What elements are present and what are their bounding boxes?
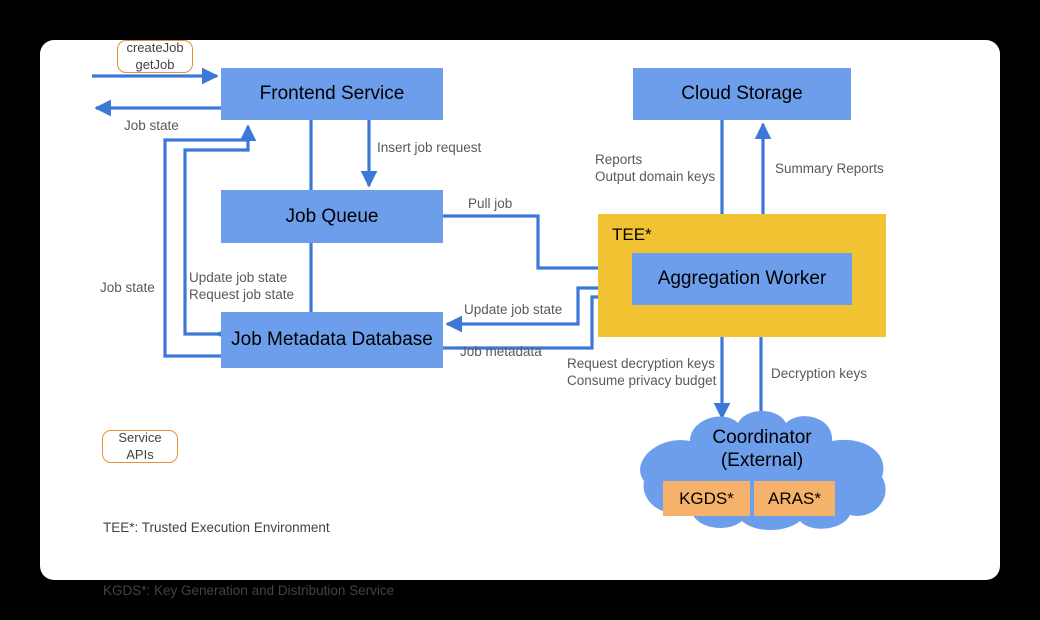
node-cloud-storage-label: Cloud Storage [681,83,802,105]
edge-label-request-decryption-keys: Request decryption keys Consume privacy … [567,355,716,390]
node-job-queue[interactable]: Job Queue [221,190,443,243]
edge-label-summary-reports: Summary Reports [775,160,884,177]
node-frontend-service[interactable]: Frontend Service [221,68,443,120]
node-aras-label: ARAS* [768,489,821,509]
node-aggregation-worker-label: Aggregation Worker [658,268,827,290]
edge-label-decryption-keys: Decryption keys [771,365,867,382]
legend-key-line1: Service [118,430,161,446]
callout-line-createjob: createJob [126,40,183,56]
node-job-metadata-database-label: Job Metadata Database [231,329,433,351]
node-aras[interactable]: ARAS* [754,481,835,516]
legend-service-apis-key: Service APIs [102,430,178,463]
edge-label-job-state-out: Job state [124,117,179,134]
edge-label-pull-job: Pull job [468,195,512,212]
node-cloud-storage[interactable]: Cloud Storage [633,68,851,120]
legend-line-tee: TEE*: Trusted Execution Environment [103,518,395,539]
edge-label-update-job-state: Update job state [464,301,562,318]
callout-service-apis-createjob: createJob getJob [117,40,193,73]
node-kgds[interactable]: KGDS* [663,481,750,516]
legend-line-kgds: KGDS*: Key Generation and Distribution S… [103,581,395,602]
diagram-stage: Frontend Service Job Queue Job Metadata … [0,0,1040,620]
node-frontend-service-label: Frontend Service [260,83,405,105]
edge-label-job-metadata: Job metadata [460,343,542,360]
callout-line-getjob: getJob [135,57,174,73]
edge-label-reports-output-domain-keys: Reports Output domain keys [595,151,715,186]
edge-label-job-state-left: Job state [100,279,155,296]
node-coordinator-label-line1: Coordinator [628,427,896,450]
node-aggregation-worker[interactable]: Aggregation Worker [632,253,852,305]
region-tee-label: TEE* [612,225,652,245]
node-kgds-label: KGDS* [679,489,734,509]
node-coordinator-label: Coordinator (External) [628,427,896,473]
edge-label-insert-job-request: Insert job request [377,139,481,156]
node-coordinator-label-line2: (External) [628,450,896,473]
legend-abbreviations: TEE*: Trusted Execution Environment KGDS… [103,476,395,620]
node-job-metadata-database[interactable]: Job Metadata Database [221,312,443,368]
legend-key-line2: APIs [126,447,153,463]
node-job-queue-label: Job Queue [286,206,379,228]
edge-label-update-request-job-state: Update job state Request job state [189,269,294,304]
